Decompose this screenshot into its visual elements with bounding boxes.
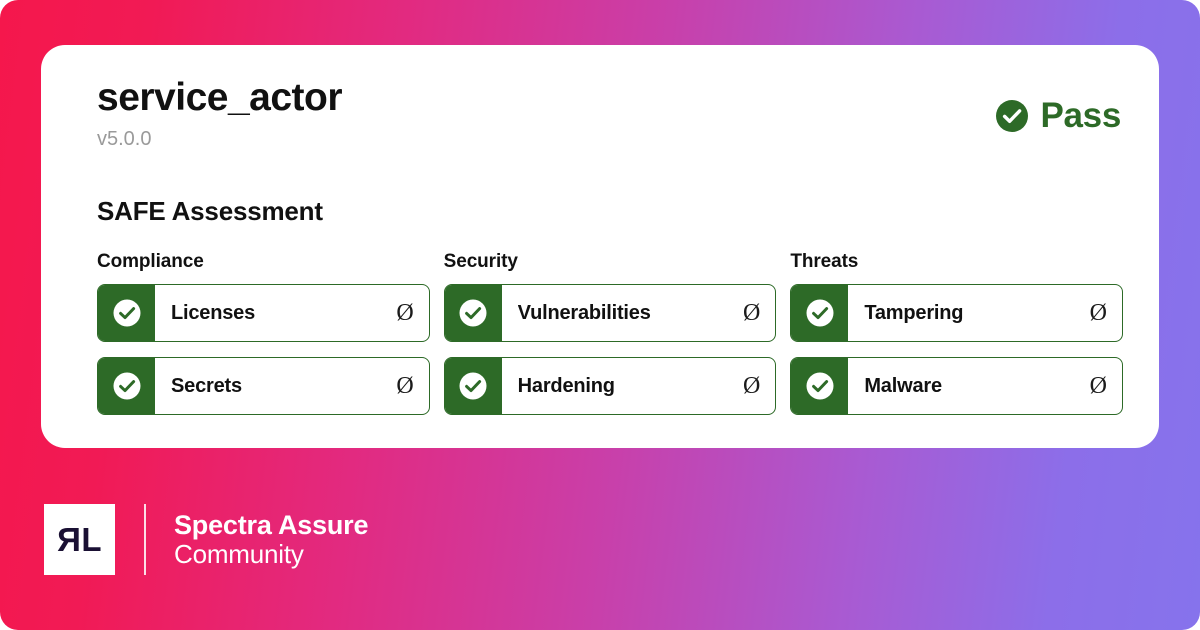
report-card: service_actor v5.0.0 Pass SAFE Assessmen… <box>41 45 1159 448</box>
row-body: Tampering Ø <box>848 285 1122 341</box>
check-label: Licenses <box>171 302 255 325</box>
check-row[interactable]: Vulnerabilities Ø <box>444 284 777 342</box>
check-label: Tampering <box>864 302 963 325</box>
check-circle-icon <box>112 371 142 401</box>
check-circle-icon <box>805 371 835 401</box>
card-header: service_actor v5.0.0 Pass <box>69 78 1123 194</box>
check-circle-icon <box>995 99 1029 133</box>
check-row[interactable]: Secrets Ø <box>97 357 430 415</box>
check-count: Ø <box>1082 374 1107 398</box>
check-group-security: Security Vulnerabilities Ø <box>444 251 777 415</box>
row-body: Vulnerabilities Ø <box>502 285 776 341</box>
check-row[interactable]: Licenses Ø <box>97 284 430 342</box>
check-group-threats: Threats Tampering Ø <box>790 251 1123 415</box>
check-row[interactable]: Hardening Ø <box>444 357 777 415</box>
check-circle-icon <box>112 298 142 328</box>
logo-wordmark: RL <box>58 523 100 556</box>
row-body: Malware Ø <box>848 358 1122 414</box>
check-label: Malware <box>864 375 942 398</box>
package-version: v5.0.0 <box>69 128 1123 151</box>
row-body: Licenses Ø <box>155 285 429 341</box>
report-poster: service_actor v5.0.0 Pass SAFE Assessmen… <box>0 0 1200 630</box>
brand-name: Spectra Assure <box>174 510 368 540</box>
logo-letter-l: L <box>81 521 100 558</box>
check-label: Vulnerabilities <box>518 302 651 325</box>
check-count: Ø <box>735 301 760 325</box>
check-count: Ø <box>388 301 413 325</box>
row-body: Hardening Ø <box>502 358 776 414</box>
check-row[interactable]: Malware Ø <box>790 357 1123 415</box>
check-count: Ø <box>1082 301 1107 325</box>
check-circle-icon <box>805 298 835 328</box>
row-status <box>791 285 848 341</box>
check-row[interactable]: Tampering Ø <box>790 284 1123 342</box>
check-label: Secrets <box>171 375 242 398</box>
logo-letter-r: R <box>58 523 81 556</box>
check-circle-icon <box>458 298 488 328</box>
group-label: Threats <box>790 251 1123 273</box>
assessment-title: SAFE Assessment <box>69 196 1123 227</box>
check-count: Ø <box>735 374 760 398</box>
page-title: service_actor <box>69 78 1123 119</box>
row-status <box>98 358 155 414</box>
row-status <box>445 358 502 414</box>
check-group-compliance: Compliance Licenses Ø <box>97 251 430 415</box>
row-status <box>791 358 848 414</box>
footer-divider <box>144 504 146 575</box>
group-label: Compliance <box>97 251 430 273</box>
row-body: Secrets Ø <box>155 358 429 414</box>
status-badge: Pass <box>995 96 1121 136</box>
group-label: Security <box>444 251 777 273</box>
check-count: Ø <box>388 374 413 398</box>
check-label: Hardening <box>518 375 615 398</box>
verdict-label: Pass <box>1040 96 1121 136</box>
row-status <box>98 285 155 341</box>
footer-branding: RL Spectra Assure Community <box>44 504 368 575</box>
check-circle-icon <box>458 371 488 401</box>
footer-text: Spectra Assure Community <box>174 510 368 569</box>
reversinglabs-logo-icon: RL <box>44 504 115 575</box>
row-status <box>445 285 502 341</box>
check-groups: Compliance Licenses Ø <box>69 251 1123 415</box>
brand-tier: Community <box>174 540 368 569</box>
